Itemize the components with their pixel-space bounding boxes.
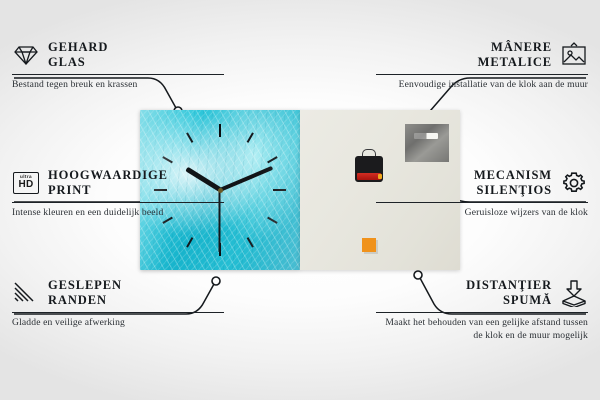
feature-description: Eenvoudige installatie van de klok aan d… — [376, 79, 588, 92]
feature-title: GESLEPENRANDEN — [48, 278, 122, 308]
infographic-canvas: GEHARDGLAS Bestand tegen breuk en krasse… — [0, 0, 600, 400]
clock-tick — [220, 189, 278, 224]
feature-ground-edges: GESLEPENRANDEN Gladde en veilige afwerki… — [12, 278, 224, 330]
foam-spacer-piece — [362, 238, 376, 252]
feature-description: Intense kleuren en een duidelijk beeld — [12, 207, 224, 220]
clock-tick — [219, 132, 254, 190]
feature-foam-spacer: DISTANŢIERSPUMĂ Maakt het behouden van e… — [376, 278, 588, 342]
feature-description: Maakt het behouden van een gelijke afsta… — [376, 317, 588, 342]
clock-tick — [220, 189, 286, 191]
feature-header: ultra HD HOOGWAARDIGEPRINT — [12, 168, 224, 198]
feature-title: GEHARDGLAS — [48, 40, 108, 70]
feature-header: DISTANŢIERSPUMĂ — [376, 278, 588, 308]
hd-badge: ultra HD — [13, 172, 39, 194]
gear-icon — [560, 169, 588, 197]
feature-description: Gladde en veilige afwerking — [12, 317, 224, 330]
feature-header: MECANISMSILENŢIOS — [376, 168, 588, 198]
feature-high-quality-print: ultra HD HOOGWAARDIGEPRINT Intense kleur… — [12, 168, 224, 220]
diamond-icon — [12, 41, 40, 69]
beveled-edge-icon — [12, 279, 40, 307]
feature-header: GEHARDGLAS — [12, 40, 224, 70]
feature-header: GESLEPENRANDEN — [12, 278, 224, 308]
down-arrow-pad-icon — [560, 279, 588, 307]
feature-description: Geruisloze wijzers van de klok — [376, 207, 588, 220]
clock-minute-hand — [219, 166, 273, 192]
feature-tempered-glass: GEHARDGLAS Bestand tegen breuk en krasse… — [12, 40, 224, 92]
ultra-hd-icon: ultra HD — [12, 169, 40, 197]
feature-description: Bestand tegen breuk en krassen — [12, 79, 224, 92]
metal-hanger-plate — [405, 124, 449, 162]
clock-tick — [219, 190, 254, 248]
divider — [376, 202, 588, 204]
feature-metal-handles: MÂNEREMETALICE Eenvoudige installatie va… — [376, 40, 588, 92]
divider — [12, 312, 224, 314]
hd-badge-large-label: HD — [18, 180, 33, 190]
clock-tick — [220, 156, 278, 191]
divider — [12, 202, 224, 204]
feature-title: DISTANŢIERSPUMĂ — [466, 278, 552, 308]
feature-header: MÂNEREMETALICE — [376, 40, 588, 70]
feature-title: HOOGWAARDIGEPRINT — [48, 168, 168, 198]
feature-silent-mechanism: MECANISMSILENŢIOS Geruisloze wijzers van… — [376, 168, 588, 220]
feature-title: MÂNEREMETALICE — [478, 40, 552, 70]
feature-title: MECANISMSILENŢIOS — [474, 168, 552, 198]
framed-picture-icon — [560, 41, 588, 69]
divider — [12, 74, 224, 76]
divider — [376, 74, 588, 76]
divider — [376, 312, 588, 314]
